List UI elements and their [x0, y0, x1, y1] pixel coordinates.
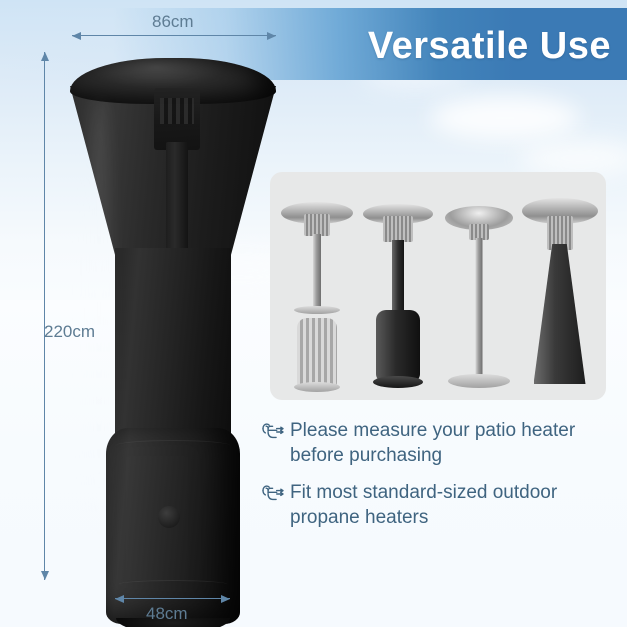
- bullet-line-2: before purchasing: [290, 445, 442, 466]
- cover-base-seam: [118, 580, 228, 589]
- heater-tank: [297, 318, 337, 390]
- heater-burner: [304, 214, 330, 236]
- top-dimension-label: 86cm: [152, 12, 194, 32]
- heater-base-plate: [448, 374, 510, 388]
- cover-base-section: [106, 428, 240, 624]
- bullet-line-1: Please measure your patio heater: [290, 420, 575, 441]
- cover-base-knob: [158, 506, 180, 528]
- banner-title: Versatile Use: [368, 22, 611, 70]
- heater-table-plate: [294, 306, 340, 314]
- heater-slim-pole: [441, 190, 517, 390]
- bottom-dimension-label: 48cm: [146, 604, 188, 624]
- top-dimension-arrow: [72, 35, 276, 36]
- bullet-item: Fit most standard-sized outdoor propane …: [260, 480, 620, 530]
- heater-base-plate: [294, 382, 340, 392]
- pointing-hand-icon: [260, 419, 286, 443]
- height-dimension-label: 220cm: [44, 322, 95, 342]
- heater-base-plate: [373, 376, 423, 388]
- cover-burner-bulge: [154, 88, 200, 150]
- bottom-dimension-arrow: [115, 598, 230, 599]
- heater-list: [270, 172, 606, 400]
- height-dimension-arrow: [44, 52, 45, 580]
- bullet-text: Please measure your patio heater before …: [290, 418, 575, 468]
- heater-stainless-cylinder: [279, 190, 355, 390]
- heater-post: [392, 240, 404, 314]
- bullet-item: Please measure your patio heater before …: [260, 418, 620, 468]
- bullet-line-2: propane heaters: [290, 507, 428, 528]
- heater-post: [313, 234, 321, 312]
- heater-dark-body: [360, 190, 436, 390]
- heater-tapered-column: [522, 190, 598, 390]
- bullet-text: Fit most standard-sized outdoor propane …: [290, 480, 557, 530]
- heater-column: [534, 244, 586, 384]
- cover-middle-section: [115, 248, 231, 448]
- heater-tank: [376, 310, 420, 382]
- heater-burner: [383, 216, 413, 242]
- bullet-line-1: Fit most standard-sized outdoor: [290, 482, 557, 503]
- compatible-heaters-panel: [270, 172, 606, 400]
- product-infographic: Versatile Use 86cm 220cm 48cm: [0, 0, 627, 627]
- pointing-hand-icon: [260, 481, 286, 505]
- cloud-decoration: [430, 96, 580, 140]
- heater-post: [475, 238, 482, 380]
